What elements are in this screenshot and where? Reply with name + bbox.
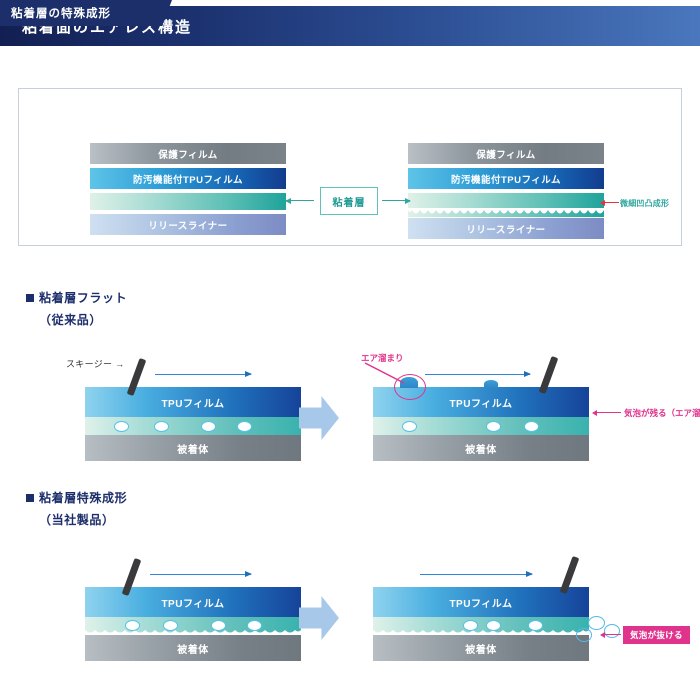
squeegee-direction-arrow <box>425 374 530 375</box>
layer-release-liner: リリースライナー <box>408 218 604 239</box>
section-special-heading-text: 粘着層特殊成形 <box>39 491 127 505</box>
air-bubble <box>486 421 501 432</box>
film-adhesive-layer <box>373 417 589 435</box>
escaping-bubble <box>604 624 620 638</box>
air-bubble <box>524 421 539 432</box>
layer-label: 保護フィルム <box>158 147 218 161</box>
layer-adhesive-embossed <box>408 193 604 217</box>
film-substrate-label: 被着体 <box>177 641 209 656</box>
escaping-bubble <box>576 628 592 642</box>
air-bubble <box>528 620 543 631</box>
process-arrow-flat <box>299 396 339 440</box>
film-diagram-special-before: TPUフィルム 被着体 <box>85 587 301 661</box>
layer-label: リリースライナー <box>466 222 545 236</box>
air-bubble <box>201 421 216 432</box>
adhesive-wave-edge <box>408 208 604 217</box>
air-bubble <box>486 620 501 631</box>
air-bubble <box>402 421 417 432</box>
layer-release-liner: リリースライナー <box>90 214 286 235</box>
film-diagram-special-after: TPUフィルム 被着体 <box>373 587 589 661</box>
arrow-head-left <box>285 198 291 204</box>
bubble-escape-label: 気泡が抜ける <box>623 626 690 644</box>
layer-protective-film: 保護フィルム <box>90 143 286 164</box>
film-adhesive-layer-embossed <box>85 617 301 635</box>
squeegee-direction-arrow <box>420 574 532 575</box>
air-bubble <box>463 620 478 631</box>
film-substrate-layer: 被着体 <box>85 635 301 661</box>
air-bubble <box>163 620 178 631</box>
air-pocket-bump <box>484 380 498 388</box>
film-tpu-layer: TPUフィルム <box>85 387 301 417</box>
adhesive-callout-label: 粘着層 <box>333 194 366 209</box>
bubble-escape-arrow <box>605 634 621 635</box>
layer-label: 防汚機能付TPUフィルム <box>451 172 561 186</box>
layer-adhesive-flat <box>90 193 286 210</box>
callout-arrow-left <box>286 200 314 201</box>
film-tpu-label: TPUフィルム <box>449 595 512 610</box>
film-tpu-label: TPUフィルム <box>161 395 224 410</box>
section-flat-heading: 粘着層フラット <box>26 289 127 306</box>
air-bubble <box>154 421 169 432</box>
section-flat-heading-text: 粘着層フラット <box>39 291 127 305</box>
layer-tpu-film: 防汚機能付TPUフィルム <box>408 168 604 189</box>
film-tpu-label: TPUフィルム <box>161 595 224 610</box>
air-pocket-highlight-circle <box>394 374 426 400</box>
film-adhesive-layer-embossed <box>373 617 589 635</box>
adhesive-layer-callout: 粘着層 <box>320 187 378 215</box>
film-tpu-layer: TPUフィルム <box>85 587 301 617</box>
layer-stack-flat: 保護フィルム 防汚機能付TPUフィルム リリースライナー <box>90 143 286 239</box>
film-adhesive-layer <box>85 417 301 435</box>
squeegee-label: スキージー → <box>66 357 124 370</box>
section-flat-subheading: （従来品） <box>39 311 102 328</box>
film-substrate-layer: 被着体 <box>85 435 301 461</box>
film-diagram-flat-before: TPUフィルム 被着体 <box>85 387 301 461</box>
film-substrate-label: 被着体 <box>177 441 209 456</box>
air-bubble <box>237 421 252 432</box>
bubble-remain-label: 気泡が残る（エア溜り） <box>624 407 700 419</box>
bullet-square-icon <box>26 294 34 302</box>
micro-emboss-arrow <box>604 202 619 203</box>
layer-label: 保護フィルム <box>476 147 536 161</box>
layer-protective-film: 保護フィルム <box>408 143 604 164</box>
film-substrate-layer: 被着体 <box>373 435 589 461</box>
film-substrate-label: 被着体 <box>465 641 497 656</box>
layer-tpu-film: 防汚機能付TPUフィルム <box>90 168 286 189</box>
callout-arrow-right <box>382 200 410 201</box>
adhesive-wave-edge <box>373 627 589 635</box>
squeegee-direction-arrow <box>150 574 251 575</box>
bubble-remain-arrow <box>597 412 621 413</box>
micro-emboss-label: 微細凹凸成形 <box>620 198 669 209</box>
layer-label: リリースライナー <box>148 218 227 232</box>
air-bubble <box>125 620 140 631</box>
film-substrate-label: 被着体 <box>465 441 497 456</box>
escaping-bubble <box>588 616 605 630</box>
layer-stack-embossed: 保護フィルム 防汚機能付TPUフィルム リリースライナー <box>408 143 604 243</box>
panel-tab-label: 粘着層の特殊成形 <box>11 5 111 21</box>
section-special-subheading: （当社製品） <box>39 511 115 528</box>
adhesive-wave-edge <box>85 627 301 635</box>
arrow-head-right <box>405 198 411 204</box>
process-arrow-special <box>299 596 339 640</box>
air-bubble <box>247 620 262 631</box>
squeegee-direction-arrow <box>155 374 251 375</box>
section-special-heading: 粘着層特殊成形 <box>26 489 127 506</box>
bullet-square-icon <box>26 494 34 502</box>
layer-label: 防汚機能付TPUフィルム <box>133 172 243 186</box>
air-bubble <box>114 421 129 432</box>
film-substrate-layer: 被着体 <box>373 635 589 661</box>
film-tpu-label: TPUフィルム <box>449 395 512 410</box>
film-tpu-layer: TPUフィルム <box>373 587 589 617</box>
air-bubble <box>211 620 226 631</box>
panel-tab: 粘着層の特殊成形 <box>0 0 150 26</box>
